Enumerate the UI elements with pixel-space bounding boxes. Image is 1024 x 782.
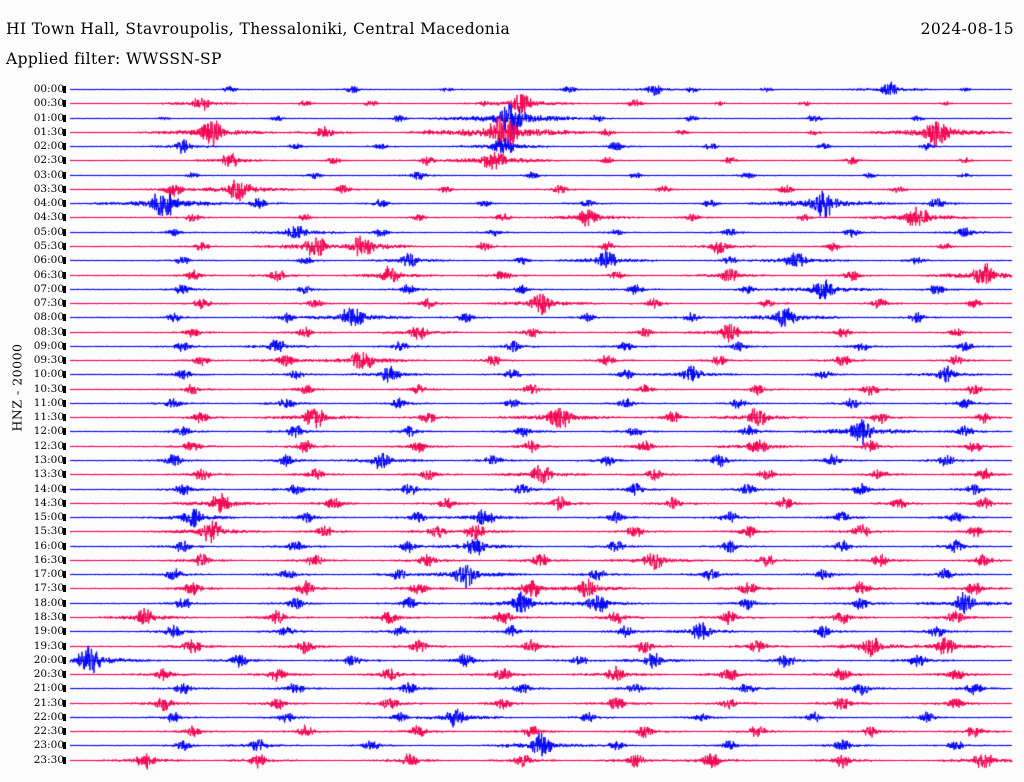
trace-row[interactable]: 07:00: [0, 267, 1024, 281]
trace-row[interactable]: 16:00: [0, 524, 1024, 538]
trace-row[interactable]: 08:30: [0, 310, 1024, 324]
trace-row[interactable]: 13:00: [0, 438, 1024, 452]
trace-row[interactable]: 14:30: [0, 481, 1024, 495]
trace-row[interactable]: 10:30: [0, 367, 1024, 381]
trace-row[interactable]: 22:30: [0, 709, 1024, 723]
trace-row[interactable]: 15:00: [0, 495, 1024, 509]
trace-row[interactable]: 05:30: [0, 224, 1024, 238]
trace-row[interactable]: 21:00: [0, 666, 1024, 680]
record-date: 2024-08-15: [921, 20, 1014, 38]
trace-row[interactable]: 09:30: [0, 338, 1024, 352]
trace-row[interactable]: 15:30: [0, 509, 1024, 523]
trace-row[interactable]: 03:30: [0, 167, 1024, 181]
trace-row[interactable]: 00:30: [0, 81, 1024, 95]
trace-row[interactable]: 12:30: [0, 424, 1024, 438]
trace-row[interactable]: 01:00: [0, 96, 1024, 110]
trace-row[interactable]: 19:00: [0, 609, 1024, 623]
trace-row[interactable]: 08:00: [0, 295, 1024, 309]
trace-row[interactable]: 23:30: [0, 738, 1024, 752]
trace-row[interactable]: 07:30: [0, 281, 1024, 295]
trace-row[interactable]: 03:00: [0, 153, 1024, 167]
trace-row[interactable]: 18:00: [0, 581, 1024, 595]
trace-row[interactable]: 17:00: [0, 552, 1024, 566]
trace-row[interactable]: 23:00: [0, 723, 1024, 737]
trace-row[interactable]: 12:00: [0, 409, 1024, 423]
trace-row[interactable]: 22:00: [0, 695, 1024, 709]
trace-row[interactable]: 11:30: [0, 395, 1024, 409]
trace-row[interactable]: 00:00: [0, 67, 1024, 81]
trace-row[interactable]: 16:30: [0, 538, 1024, 552]
trace-row[interactable]: 05:00: [0, 210, 1024, 224]
trace-row[interactable]: 10:00: [0, 352, 1024, 366]
applied-filter-label: Applied filter: WWSSN-SP: [6, 50, 222, 68]
trace-row[interactable]: 06:30: [0, 253, 1024, 267]
trace-row[interactable]: 02:00: [0, 124, 1024, 138]
trace-row[interactable]: 02:30: [0, 138, 1024, 152]
trace-row[interactable]: 13:30: [0, 452, 1024, 466]
trace-row[interactable]: 06:00: [0, 238, 1024, 252]
trace-row[interactable]: 04:00: [0, 181, 1024, 195]
trace-row[interactable]: 11:00: [0, 381, 1024, 395]
trace-row[interactable]: 04:30: [0, 195, 1024, 209]
trace-row[interactable]: 17:30: [0, 566, 1024, 580]
helicorder-plot: 00:0000:3001:0001:3002:0002:3003:0003:30…: [0, 78, 1024, 778]
page-title: HI Town Hall, Stavroupolis, Thessaloniki…: [6, 20, 510, 38]
trace-row[interactable]: 20:30: [0, 652, 1024, 666]
trace-row[interactable]: 01:30: [0, 110, 1024, 124]
trace-row[interactable]: 14:00: [0, 467, 1024, 481]
trace-row[interactable]: 09:00: [0, 324, 1024, 338]
trace-row[interactable]: 19:30: [0, 624, 1024, 638]
trace-row[interactable]: 18:30: [0, 595, 1024, 609]
seismogram-trace[interactable]: [0, 738, 1024, 782]
trace-row[interactable]: 20:00: [0, 638, 1024, 652]
trace-row[interactable]: 21:30: [0, 681, 1024, 695]
